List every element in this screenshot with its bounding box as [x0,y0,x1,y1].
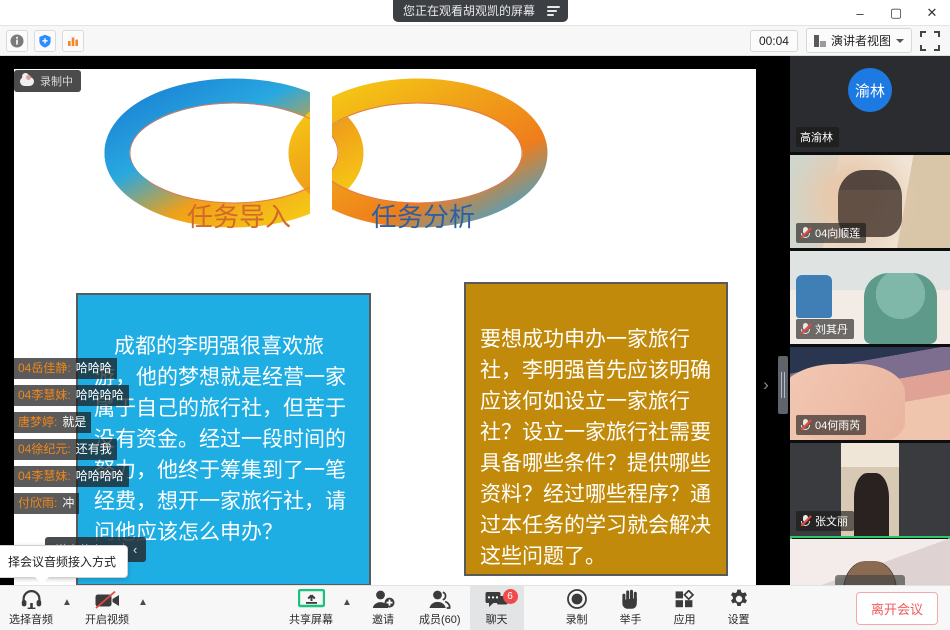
toolbar-label-video: 开启视频 [85,611,129,627]
share-options-caret[interactable]: ▲ [342,586,356,630]
participant-name-tag: 04向顺莲 [796,223,866,243]
recording-indicator: 录制中 [14,70,81,92]
chat-text: 还有我 [73,439,117,460]
raise-hand-icon [621,589,640,609]
chat-unread-badge: 6 [503,589,518,604]
toolbar-label-invite: 邀请 [372,611,394,627]
chat-sender: 04岳佳静: [14,358,73,379]
cloud-record-icon [20,77,34,86]
participant-tile[interactable]: 张文丽 [790,440,950,536]
maximize-button[interactable]: ▢ [878,0,914,26]
record-icon [567,589,587,609]
screen-share-notice[interactable]: 您正在观看胡观凯的屏幕 [393,0,568,22]
statistics-icon[interactable] [62,30,84,52]
share-notice-label: 您正在观看胡观凯的屏幕 [403,0,535,22]
chevron-down-icon[interactable]: ⌄ [835,575,905,586]
invite-user-icon [372,589,395,609]
toolbar-item-invite[interactable]: 邀请 [356,586,410,630]
zoom-meeting-window: 您正在观看胡观凯的屏幕 – ▢ ✕ 00:04 演讲者视图 [0,0,950,630]
chat-message: 04李慧妹: 哈哈哈哈 [14,466,174,487]
view-mode-label: 演讲者视图 [831,32,891,49]
toolbar-item-settings[interactable]: 设置 [712,586,766,630]
toolbar-label-chat: 聊天 [486,611,508,627]
recording-label: 录制中 [40,73,73,89]
chat-message: 04徐纪元: 还有我 [14,439,174,460]
chat-text: 哈哈哈 [73,358,117,379]
chat-sender: 04徐纪元: [14,439,73,460]
chat-sender: 付欣雨: [14,493,59,514]
toolbar-item-video[interactable]: 开启视频 [76,586,138,630]
fullscreen-icon[interactable] [920,31,940,51]
mic-muted-icon [800,323,811,335]
share-screen-icon [298,589,325,609]
stage-drag-handle[interactable] [778,356,788,414]
title-bar: 您正在观看胡观凯的屏幕 – ▢ ✕ [0,0,950,26]
chat-sender: 04李慧妹: [14,466,73,487]
participant-tile-active[interactable]: ⌄ [790,536,950,585]
participant-name: 04向顺莲 [815,225,860,241]
meeting-info-icon[interactable] [6,30,28,52]
toolbar-item-audio[interactable]: 选择音频 [0,586,62,630]
participant-name: 04何雨芮 [815,417,860,433]
layout-icon [814,35,826,47]
participant-tile[interactable]: 04何雨芮 [790,344,950,440]
audio-tooltip-label: 择会议音频接入方式 [8,555,116,569]
chat-message: 04李慧妹: 哈哈哈哈 [14,385,174,406]
meeting-sub-toolbar: 00:04 演讲者视图 [0,26,950,56]
participant-filmstrip[interactable]: 渝林 高渝林 04向顺莲 刘其丹 04何雨芮 [790,56,950,585]
toolbar-label-participants: 成员(60) [419,611,461,627]
mic-muted-icon [800,227,811,239]
leave-meeting-button[interactable]: 离开会议 [856,592,938,625]
chat-sender: 04李慧妹: [14,385,73,406]
gear-icon [729,589,749,609]
participant-name-tag: 张文丽 [796,511,854,531]
toolbar-label-record: 录制 [566,611,588,627]
chat-message: 04岳佳静: 哈哈哈 [14,358,174,379]
ring-right-label: 任务分析 [358,197,488,234]
toolbar-item-record[interactable]: 录制 [550,586,604,630]
chat-text: 哈哈哈哈 [73,466,129,487]
meeting-timer: 00:04 [750,30,798,52]
toolbar-item-chat[interactable]: 6 聊天 [470,586,524,630]
chat-sender: 唐梦婷: [14,412,59,433]
toolbar-label-share: 共享屏幕 [289,611,333,627]
slide-gold-textbox: 要想成功申办一家旅行社，李明强首先应该明确应该何如设立一家旅行社？设立一家旅行社… [464,282,728,576]
chat-text: 冲 [59,493,79,514]
toolbar-item-participants[interactable]: 成员(60) [410,586,470,630]
toolbar-label-raise-hand: 举手 [620,611,642,627]
participant-name: 张文丽 [815,513,848,529]
participant-tile[interactable]: 渝林 高渝林 [790,56,950,152]
participant-tile[interactable]: 04向顺莲 [790,152,950,248]
view-mode-selector[interactable]: 演讲者视图 [806,28,912,53]
hamburger-icon[interactable] [543,6,560,16]
next-page-arrow[interactable]: › [758,372,774,398]
mic-muted-icon [800,419,811,431]
chat-text: 哈哈哈哈 [73,385,129,406]
ring-left-label: 任务导入 [174,197,304,234]
mic-muted-icon [800,515,811,527]
apps-icon [675,589,695,609]
toolbar-item-apps[interactable]: 应用 [658,586,712,630]
video-options-caret[interactable]: ▲ [138,586,152,630]
participant-tile[interactable]: 刘其丹 [790,248,950,344]
shared-screen-stage: 录制中 [0,56,790,585]
headset-icon [21,589,42,609]
participant-name: 高渝林 [800,129,833,145]
toolbar-label-audio: 选择音频 [9,611,53,627]
security-shield-icon[interactable] [34,30,56,52]
chat-message: 付欣雨: 冲 [14,493,174,514]
video-off-icon [95,589,120,609]
window-controls: – ▢ ✕ [842,0,950,26]
participant-name-tag: 04何雨芮 [796,415,866,435]
toolbar-label-apps: 应用 [674,611,696,627]
chevron-down-icon [896,39,904,43]
audio-options-caret[interactable]: ▲ [62,586,76,630]
meeting-control-bar: 选择音频 ▲ 开启视频 ▲ 共享屏幕 ▲ 邀请 [0,585,950,630]
chat-overlay: 04岳佳静: 哈哈哈 04李慧妹: 哈哈哈哈 唐梦婷: 就是 04徐纪元: 还有… [14,358,174,514]
avatar: 渝林 [848,68,892,112]
participant-name: 刘其丹 [815,321,848,337]
participants-icon [428,589,451,609]
toolbar-label-settings: 设置 [728,611,750,627]
toolbar-item-share[interactable]: 共享屏幕 [280,586,342,630]
toolbar-item-raise-hand[interactable]: 举手 [604,586,658,630]
close-button[interactable]: ✕ [914,0,950,26]
chat-message: 唐梦婷: 就是 [14,412,174,433]
participant-name-tag: 刘其丹 [796,319,854,339]
audio-tooltip: 择会议音频接入方式 [0,545,128,578]
minimize-button[interactable]: – [842,0,878,26]
participant-name-tag: 高渝林 [796,127,839,147]
sub-toolbar-right: 00:04 演讲者视图 [750,28,944,53]
chat-text: 就是 [59,412,91,433]
